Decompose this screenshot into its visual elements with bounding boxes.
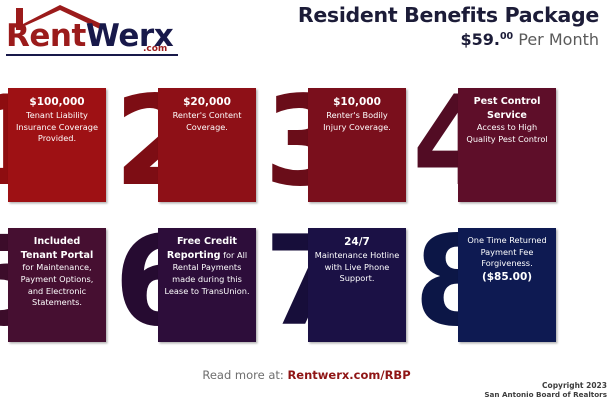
benefit-3-text: Renter's Bodily Injury Coverage. — [323, 110, 391, 132]
benefit-card-5[interactable]: 5 Included Tenant Portal for Maintenance… — [8, 228, 106, 342]
benefit-card-8-body: One Time Returned Payment Fee Forgivenes… — [458, 228, 556, 342]
price-line: $59.00 Per Month — [298, 31, 599, 49]
copyright-line-1: Copyright 2023 — [427, 381, 607, 390]
benefit-card-1[interactable]: 1 $100,000 Tenant Liability Insurance Co… — [8, 88, 106, 202]
page-title: Resident Benefits Package — [298, 4, 599, 28]
benefit-3-lead: $10,000 — [333, 96, 381, 108]
benefit-card-5-body: Included Tenant Portal for Maintenance, … — [8, 228, 106, 342]
price-cents: 00 — [500, 31, 513, 42]
logo-underline — [6, 54, 178, 56]
benefit-card-6-body: Free Credit Reporting for All Rental Pay… — [158, 228, 256, 342]
page-footer: Read more at: Rentwerx.com/RBP — [0, 368, 613, 382]
benefit-7-lead: 24/7 — [344, 236, 370, 248]
benefit-card-7[interactable]: 7 24/7 Maintenance Hotline with Live Pho… — [308, 228, 406, 342]
benefit-1-text: Tenant Liability Insurance Coverage Prov… — [16, 110, 98, 143]
price-suffix: Per Month — [513, 30, 599, 49]
benefit-card-3-body: $10,000 Renter's Bodily Injury Coverage. — [308, 88, 406, 202]
benefit-card-6[interactable]: 6 Free Credit Reporting for All Rental P… — [158, 228, 256, 342]
logo-rent-text: Rent — [6, 18, 86, 54]
benefit-5-text: for Maintenance, Payment Options, and El… — [21, 262, 94, 307]
benefit-2-lead: $20,000 — [183, 96, 231, 108]
rentwerx-logo[interactable]: RentWerx .com — [6, 4, 186, 60]
read-more-line: Read more at: Rentwerx.com/RBP — [0, 368, 613, 382]
benefit-2-text: Renter's Content Coverage. — [173, 110, 242, 132]
copyright-line-2: San Antonio Board of Realtors — [427, 390, 607, 399]
benefit-7-text: Maintenance Hotline with Live Phone Supp… — [315, 250, 399, 283]
benefit-card-8[interactable]: 8 One Time Returned Payment Fee Forgiven… — [458, 228, 556, 342]
logo-dotcom-text: .com — [143, 44, 167, 54]
benefit-5-lead: Included Tenant Portal — [21, 236, 94, 261]
price-amount: $59. — [460, 30, 499, 49]
benefit-card-1-body: $100,000 Tenant Liability Insurance Cove… — [8, 88, 106, 202]
read-more-label: Read more at: — [202, 368, 287, 382]
page-header: RentWerx .com Resident Benefits Package … — [0, 0, 613, 78]
benefit-card-2-body: $20,000 Renter's Content Coverage. — [158, 88, 256, 202]
benefit-card-7-body: 24/7 Maintenance Hotline with Live Phone… — [308, 228, 406, 342]
rbp-url-link[interactable]: Rentwerx.com/RBP — [287, 368, 410, 382]
benefit-8-trailer: ($85.00) — [482, 271, 532, 283]
benefit-1-lead: $100,000 — [29, 96, 84, 108]
title-block: Resident Benefits Package $59.00 Per Mon… — [298, 4, 599, 48]
benefit-4-lead: Pest Control Service — [474, 96, 541, 121]
benefit-card-4[interactable]: 4 Pest Control Service Access to High Qu… — [458, 88, 556, 202]
benefits-grid: 1 $100,000 Tenant Liability Insurance Co… — [0, 80, 613, 350]
benefit-8-text: One Time Returned Payment Fee Forgivenes… — [467, 235, 546, 268]
copyright-block: Copyright 2023 San Antonio Board of Real… — [427, 381, 607, 399]
benefit-4-text: Access to High Quality Pest Control — [466, 122, 547, 144]
benefit-card-2[interactable]: 2 $20,000 Renter's Content Coverage. — [158, 88, 256, 202]
benefit-card-4-body: Pest Control Service Access to High Qual… — [458, 88, 556, 202]
benefit-card-3[interactable]: 3 $10,000 Renter's Bodily Injury Coverag… — [308, 88, 406, 202]
